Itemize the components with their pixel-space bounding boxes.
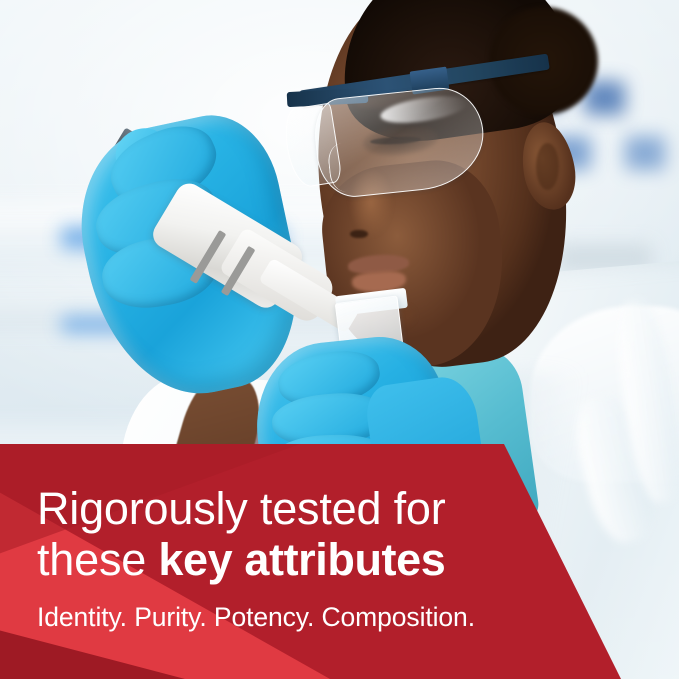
lab-scientist-photo <box>0 0 679 679</box>
lab-container-blur-1 <box>7 509 95 570</box>
sample-tube-secondary <box>398 608 458 674</box>
advertisement-banner: Rigorously tested for these key attribut… <box>0 0 679 679</box>
lab-bottle-cap-6 <box>625 136 666 170</box>
goggles-nose-bridge <box>327 141 367 192</box>
